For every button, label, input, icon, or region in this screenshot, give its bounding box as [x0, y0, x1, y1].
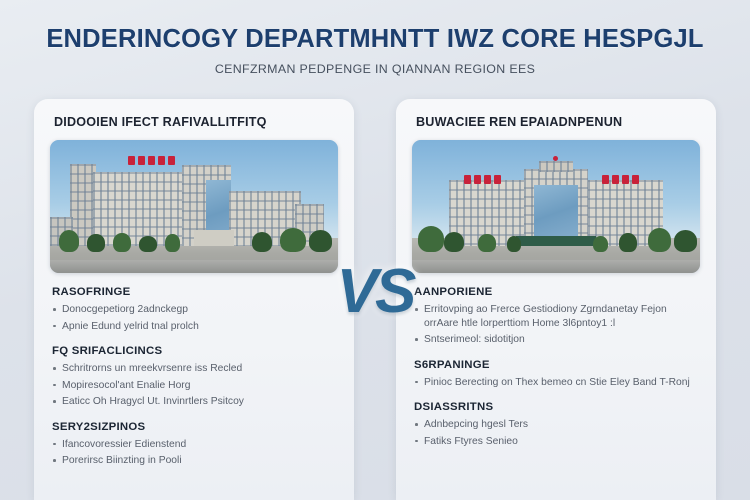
- list-item: Porerirsc Biinzting in Pooli: [50, 454, 338, 468]
- section-heading: S6RPANINGE: [414, 359, 700, 371]
- tree: [309, 230, 332, 251]
- section-block: FQ SRIFACLICINCS Schritrorns un mreekvrs…: [50, 345, 338, 409]
- section-heading: FQ SRIFACLICINCS: [52, 345, 338, 357]
- list-item: Sntserimeol: sidotitjon: [412, 333, 700, 347]
- building-glass-atrium: [534, 185, 577, 241]
- sections-left: RASOFRINGE Donocgepetiorg 2adnckegp Apni…: [50, 286, 338, 468]
- comparison-card-left[interactable]: DIDOOIEN IFECT RAFIVALLITFITQ: [34, 99, 354, 500]
- rooftop-sign-left: [128, 156, 175, 165]
- list-item: Donocgepetiorg 2adnckegp: [50, 303, 338, 317]
- section-block: DSIASSRITNS Adnbepcing hgesl Ters Fatiks…: [412, 401, 700, 448]
- poster-root: ENDERINCOGY DEPARTMHNTT IWZ CORE HESPGJL…: [0, 0, 750, 500]
- section-block: AANPORIENE Erritovping ao Frerce Gestiod…: [412, 286, 700, 347]
- list-item: Apnie Edund yelrid tnal prolch: [50, 320, 338, 334]
- facade-sign-left: [464, 175, 501, 184]
- section-heading: SERY2SIZPINOS: [52, 421, 338, 433]
- section-heading: AANPORIENE: [414, 286, 700, 298]
- list-item: Eaticc Oh Hragycl Ut. Invinrtlers Psitco…: [50, 395, 338, 409]
- facade-sign-right: [602, 175, 639, 184]
- list-item: Mopiresocol'ant Enalie Horg: [50, 379, 338, 393]
- section-bullet-list: Donocgepetiorg 2adnckegp Apnie Edund yel…: [50, 303, 338, 333]
- tree: [478, 234, 495, 251]
- section-bullet-list: Ifancovoressier Edienstend Porerirsc Bii…: [50, 438, 338, 468]
- section-bullet-list: Schritrorns un mreekvrsenre iss Recled M…: [50, 362, 338, 409]
- tree: [139, 236, 156, 252]
- tree: [593, 236, 607, 252]
- tree: [113, 233, 130, 252]
- road-strip: [50, 260, 338, 273]
- tree: [280, 228, 306, 252]
- vs-badge: VS: [337, 261, 414, 323]
- entrance-podium: [516, 236, 597, 247]
- section-bullet-list: Pinioc Berecting on Thex bemeo cn Stie E…: [412, 376, 700, 390]
- tree: [87, 234, 104, 251]
- list-item: Erritovping ao Frerce Gestiodiony Zgrnda…: [412, 303, 700, 330]
- section-heading: RASOFRINGE: [52, 286, 338, 298]
- rooftop-emblem: [553, 156, 558, 161]
- tree: [252, 232, 272, 252]
- tree: [59, 230, 79, 251]
- tree: [165, 234, 179, 251]
- section-block: S6RPANINGE Pinioc Berecting on Thex beme…: [412, 359, 700, 390]
- sections-right: AANPORIENE Erritovping ao Frerce Gestiod…: [412, 286, 700, 448]
- entrance-podium: [194, 230, 234, 246]
- tree: [674, 230, 697, 251]
- tree: [418, 226, 444, 251]
- hospital-photo-left: [50, 140, 338, 273]
- tree: [648, 228, 671, 252]
- tree: [619, 233, 636, 252]
- hospital-photo-right: [412, 140, 700, 273]
- page-title: ENDERINCOGY DEPARTMHNTT IWZ CORE HESPGJL: [30, 26, 720, 53]
- road-strip: [412, 260, 700, 273]
- list-item: Schritrorns un mreekvrsenre iss Recled: [50, 362, 338, 376]
- poster-header: ENDERINCOGY DEPARTMHNTT IWZ CORE HESPGJL…: [0, 0, 750, 82]
- section-bullet-list: Adnbepcing hgesl Ters Fatiks Ftyres Seni…: [412, 418, 700, 448]
- page-subtitle: CENFZRMAN PEDPENGE IN QIANNAN REGION EES: [30, 62, 720, 76]
- comparison-card-right[interactable]: BUWACIEE REN EPAIADNPENUN: [396, 99, 716, 500]
- section-block: SERY2SIZPINOS Ifancovoressier Edienstend…: [50, 421, 338, 468]
- list-item: Pinioc Berecting on Thex bemeo cn Stie E…: [412, 376, 700, 390]
- card-title-right: BUWACIEE REN EPAIADNPENUN: [416, 115, 700, 129]
- section-block: RASOFRINGE Donocgepetiorg 2adnckegp Apni…: [50, 286, 338, 333]
- section-bullet-list: Erritovping ao Frerce Gestiodiony Zgrnda…: [412, 303, 700, 347]
- tree: [507, 236, 521, 252]
- list-item: Adnbepcing hgesl Ters: [412, 418, 700, 432]
- card-title-left: DIDOOIEN IFECT RAFIVALLITFITQ: [54, 115, 338, 129]
- list-item: Fatiks Ftyres Senieo: [412, 435, 700, 449]
- list-item: Ifancovoressier Edienstend: [50, 438, 338, 452]
- section-heading: DSIASSRITNS: [414, 401, 700, 413]
- tree: [444, 232, 464, 252]
- building-crown: [539, 161, 574, 172]
